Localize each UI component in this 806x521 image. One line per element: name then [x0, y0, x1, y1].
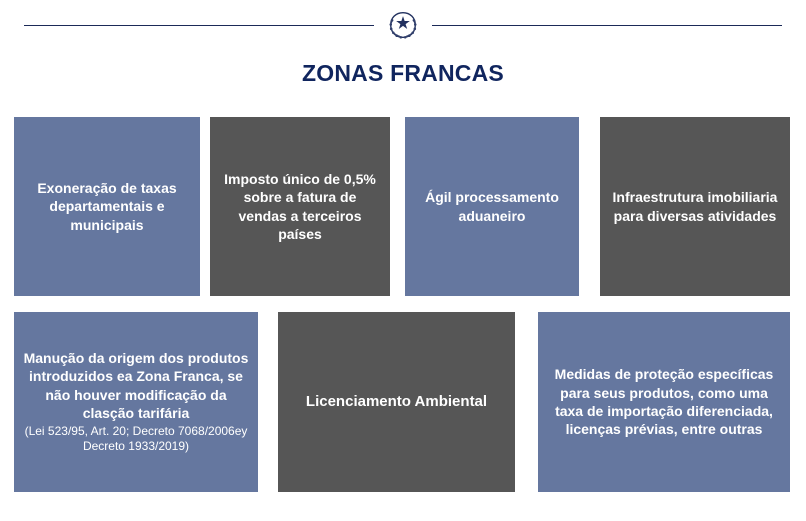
- page-title: ZONAS FRANCAS: [0, 60, 806, 87]
- info-box-text: Medidas de proteção específicas para seu…: [546, 365, 782, 439]
- info-box-infraestrutura-imobiliaria[interactable]: Infraestrutura imobiliaria para diversas…: [600, 117, 790, 296]
- info-box-medidas-protecao[interactable]: Medidas de proteção específicas para seu…: [538, 312, 790, 492]
- info-box-text: Ágil processamento aduaneiro: [413, 188, 571, 225]
- info-box-text: Licenciamento Ambiental: [286, 392, 507, 412]
- divider-left-icon: [24, 25, 374, 26]
- info-box-agil-processamento[interactable]: Ágil processamento aduaneiro: [405, 117, 579, 296]
- divider-right-icon: [432, 25, 782, 26]
- info-box-text: Manução da origem dos produtos introduzi…: [22, 349, 250, 423]
- laurel-wreath-star-emblem-icon: [386, 8, 420, 42]
- slide-canvas: ZONAS FRANCAS Exoneração de taxas depart…: [0, 0, 806, 521]
- info-box-exoneracao-taxas[interactable]: Exoneração de taxas departamentais e mun…: [14, 117, 200, 296]
- info-box-text: Imposto único de 0,5% sobre a fatura de …: [218, 170, 382, 244]
- info-box-text: Infraestrutura imobiliaria para diversas…: [608, 188, 782, 225]
- info-box-text: Exoneração de taxas departamentais e mun…: [22, 179, 192, 234]
- header-ornament: [0, 8, 806, 42]
- info-box-licenciamento-ambiental[interactable]: Licenciamento Ambiental: [278, 312, 515, 492]
- info-box-legal-reference: (Lei 523/95, Art. 20; Decreto 7068/2006e…: [22, 424, 250, 455]
- info-box-manucao-origem[interactable]: Manução da origem dos produtos introduzi…: [14, 312, 258, 492]
- info-box-imposto-unico[interactable]: Imposto único de 0,5% sobre a fatura de …: [210, 117, 390, 296]
